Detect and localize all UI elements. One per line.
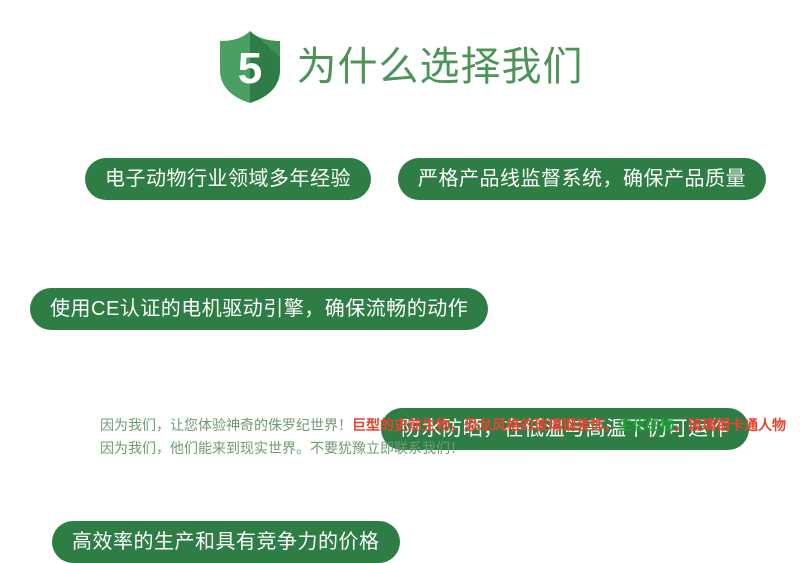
feature-pill[interactable]: 高效率的生产和具有竞争力的价格: [52, 521, 400, 563]
feature-pill[interactable]: 严格产品线监督系统，确保产品质量: [398, 158, 766, 200]
feature-pill-list: 电子动物行业领域多年经验 严格产品线监督系统，确保产品质量 使用CE认证的电机驱…: [0, 140, 800, 372]
feature-row: 高效率的生产和具有竞争力的价格: [0, 314, 800, 372]
footer-text-closing: 因为我们，他们能来到现实世界。不要犹豫立即联系我们！: [100, 440, 464, 456]
footer-text-highlight-1: 巨型的史前生物，恐龙风格的玻璃钢装饰，: [352, 417, 618, 433]
footer-text-highlight-3: ，玻璃钢卡通人物: [674, 417, 786, 433]
feature-row: 使用CE认证的电机驱动引擎，确保流畅的动作: [0, 198, 800, 256]
footer-text-highlight-2: 生化生物: [618, 417, 674, 433]
footer-line-1: 因为我们，让您体验神奇的侏罗纪世界！巨型的史前生物，恐龙风格的玻璃钢装饰，生化生…: [100, 414, 760, 437]
feature-row: 电子动物行业领域多年经验 严格产品线监督系统，确保产品质量: [0, 140, 800, 198]
page-header: 5 为什么选择我们: [0, 26, 800, 108]
shield-icon: 5: [217, 30, 283, 104]
page-title: 为什么选择我们: [297, 47, 584, 87]
feature-row: 防水防晒，在低温与高温下仍可运作: [0, 256, 800, 314]
footer-line-2: 因为我们，他们能来到现实世界。不要犹豫立即联系我们！: [100, 437, 760, 460]
footer-text-intro: 因为我们，让您体验神奇的侏罗纪世界！: [100, 417, 352, 433]
feature-pill[interactable]: 电子动物行业领域多年经验: [85, 158, 371, 200]
shield-number: 5: [237, 44, 261, 93]
footer-paragraph: 因为我们，让您体验神奇的侏罗纪世界！巨型的史前生物，恐龙风格的玻璃钢装饰，生化生…: [100, 414, 760, 460]
